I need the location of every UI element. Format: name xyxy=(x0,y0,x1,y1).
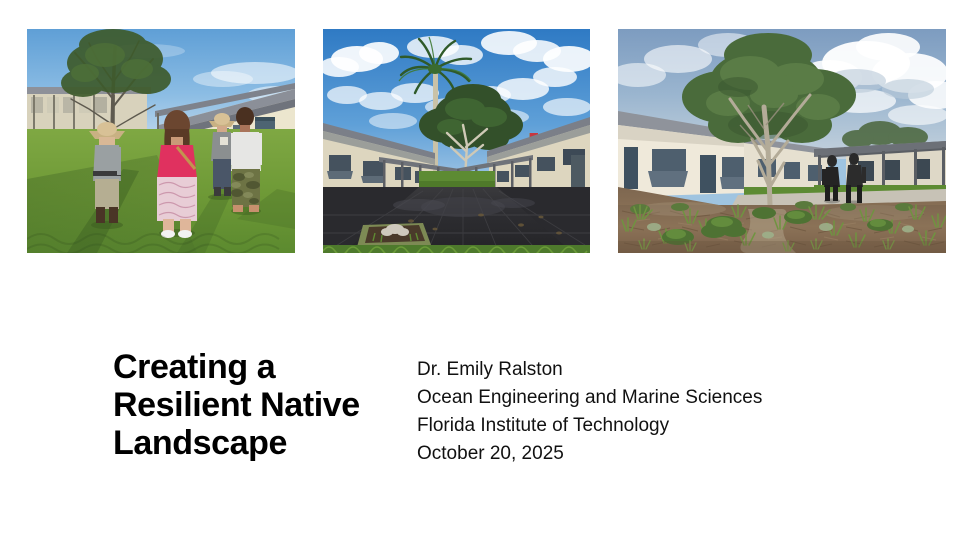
presenter-byline: Dr. Emily Ralston Ocean Engineering and … xyxy=(417,356,847,468)
photo-group-on-lawn-art xyxy=(27,29,295,253)
photo-planted-mulch-bed-art xyxy=(618,29,946,253)
title-line-1: Creating a xyxy=(113,348,403,386)
planting-cutout xyxy=(357,223,431,247)
photo-asphalt-courtyard-art xyxy=(323,29,590,253)
page-title: Creating a Resilient Native Landscape xyxy=(113,348,403,462)
photo-planted-mulch-bed xyxy=(618,29,946,253)
byline-date: October 20, 2025 xyxy=(417,440,847,468)
title-line-2: Resilient Native xyxy=(113,386,403,424)
photo-asphalt-courtyard xyxy=(323,29,590,253)
byline-presenter-name: Dr. Emily Ralston xyxy=(417,356,847,384)
title-line-3: Landscape xyxy=(113,424,403,462)
byline-department: Ocean Engineering and Marine Sciences xyxy=(417,384,847,412)
slide-root: Creating a Resilient Native Landscape Dr… xyxy=(0,0,972,547)
byline-institution: Florida Institute of Technology xyxy=(417,412,847,440)
photo-group-on-lawn xyxy=(27,29,295,253)
